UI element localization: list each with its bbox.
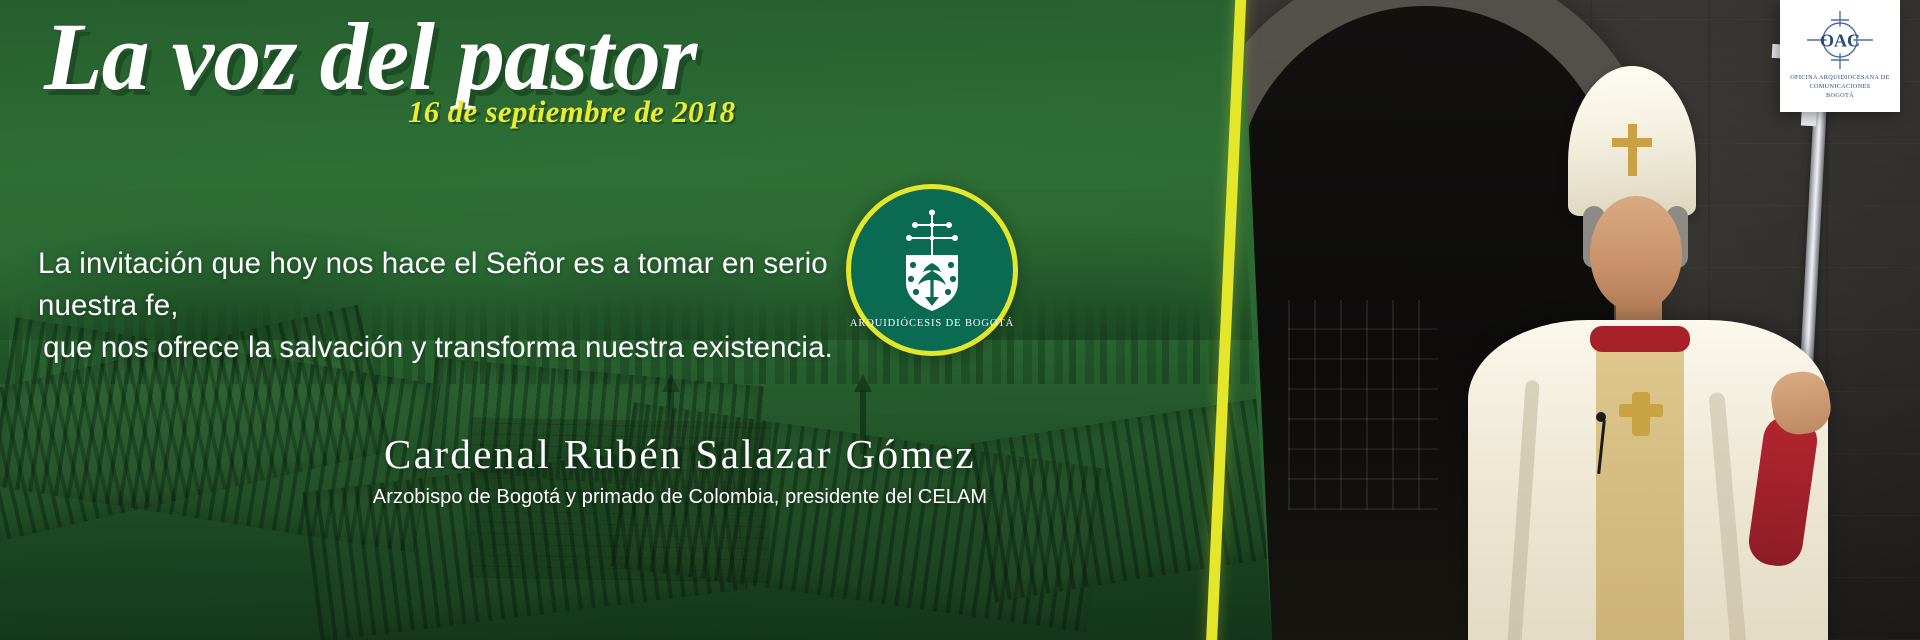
oac-caption-line-3: Bogotá: [1790, 92, 1890, 101]
mitre-icon: [1568, 66, 1696, 216]
oac-cross-circle-icon: OAC: [1803, 10, 1877, 70]
bishop-figure: [1420, 20, 1890, 640]
author-role: Arzobispo de Bogotá y primado de Colombi…: [0, 486, 1360, 509]
author-name: Cardenal Rubén Salazar Gómez: [0, 430, 1360, 478]
oac-caption-line-1: Oficina Arquidiocesana de: [1790, 74, 1890, 83]
oac-logo-card: OAC Oficina Arquidiocesana de Comunicaci…: [1780, 0, 1900, 112]
la-voz-del-pastor-banner: La voz del pastor 16 de septiembre de 20…: [0, 0, 1920, 640]
oac-caption-line-2: Comunicaciones: [1790, 83, 1890, 92]
face: [1590, 196, 1682, 312]
pectoral-cross-icon: [1632, 392, 1650, 436]
oac-caption: Oficina Arquidiocesana de Comunicaciones…: [1790, 74, 1890, 100]
quote-line-2: que nos ofrece la salvación y transforma…: [38, 327, 838, 369]
red-collar: [1590, 326, 1690, 352]
arch-window-grid: [1288, 300, 1438, 510]
oac-mark-text: OAC: [1820, 31, 1860, 51]
quote-text: La invitación que hoy nos hace el Señor …: [38, 243, 838, 369]
medallion-label: Arquidiócesis de Bogotá: [850, 318, 1014, 329]
page-title: La voz del pastor: [44, 6, 696, 108]
issue-date: 16 de septiembre de 2018: [408, 94, 735, 130]
quote-line-1: La invitación que hoy nos hace el Señor …: [38, 243, 838, 327]
gold-stole: [1596, 336, 1684, 640]
archdiocese-coat-of-arms-icon: [894, 209, 970, 313]
archdiocese-medallion: Arquidiócesis de Bogotá: [846, 184, 1018, 356]
